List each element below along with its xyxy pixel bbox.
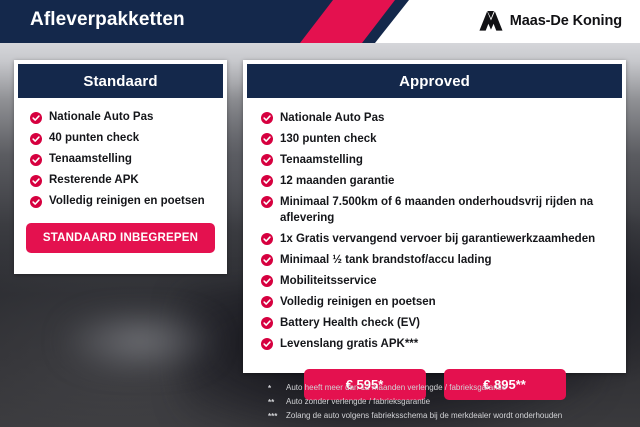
list-item: Mobiliteitsservice xyxy=(243,273,626,289)
standaard-inbegrepen-button[interactable]: STANDAARD INBEGREPEN xyxy=(26,223,215,253)
list-item: 1x Gratis vervangend vervoer bij garanti… xyxy=(243,231,626,247)
check-circle-icon xyxy=(30,196,42,208)
feature-label: Nationale Auto Pas xyxy=(280,110,384,126)
footnote-single-asterisk: * Auto heeft meer dan 12 maanden verleng… xyxy=(268,382,638,394)
list-item: Nationale Auto Pas xyxy=(243,110,626,126)
list-item: 130 punten check xyxy=(243,131,626,147)
page-title: Afleverpakketten xyxy=(30,9,185,31)
package-card-approved: Approved Nationale Auto Pas 130 punten c… xyxy=(243,60,626,373)
page-header: Afleverpakketten Maas-De Koning xyxy=(0,0,640,43)
check-circle-icon xyxy=(261,233,273,245)
feature-label: Minimaal ½ tank brandstof/accu lading xyxy=(280,252,492,268)
check-circle-icon xyxy=(261,133,273,145)
feature-label: Mobiliteitsservice xyxy=(280,273,377,289)
feature-label: Minimaal 7.500km of 6 maanden onderhouds… xyxy=(280,194,616,226)
package-card-standaard: Standaard Nationale Auto Pas 40 punten c… xyxy=(14,60,227,274)
check-circle-icon xyxy=(30,133,42,145)
afleverpakketten-page: Afleverpakketten Maas-De Koning Standaar… xyxy=(0,0,640,427)
footnote-mark: *** xyxy=(268,410,286,422)
footnotes: * Auto heeft meer dan 12 maanden verleng… xyxy=(268,382,638,424)
list-item: 40 punten check xyxy=(14,131,227,146)
footnote-text: Auto heeft meer dan 12 maanden verlengde… xyxy=(286,382,506,393)
list-item: Minimaal 7.500km of 6 maanden onderhouds… xyxy=(243,194,626,226)
feature-label: Resterende APK xyxy=(49,173,139,188)
check-circle-icon xyxy=(261,154,273,166)
feature-list-approved: Nationale Auto Pas 130 punten check Tena… xyxy=(243,98,626,352)
feature-label: 12 maanden garantie xyxy=(280,173,394,189)
check-circle-icon xyxy=(261,275,273,287)
feature-label: 130 punten check xyxy=(280,131,377,147)
feature-label: Volledig reinigen en poetsen xyxy=(49,194,205,209)
card-title-approved: Approved xyxy=(399,73,470,90)
list-item: Minimaal ½ tank brandstof/accu lading xyxy=(243,252,626,268)
card-header-approved: Approved xyxy=(247,64,622,98)
check-circle-icon xyxy=(30,154,42,166)
footnote-text: Zolang de auto volgens fabrieksschema bi… xyxy=(286,410,562,421)
check-circle-icon xyxy=(261,317,273,329)
feature-label: Levenslang gratis APK*** xyxy=(280,336,418,352)
brand-name: Maas-De Koning xyxy=(510,13,622,29)
check-circle-icon xyxy=(261,196,273,208)
check-circle-icon xyxy=(30,175,42,187)
feature-list-standaard: Nationale Auto Pas 40 punten check Tenaa… xyxy=(14,98,227,209)
list-item: Tenaamstelling xyxy=(243,152,626,168)
background-highlight xyxy=(60,306,220,376)
cta-wrapper-standaard: STANDAARD INBEGREPEN xyxy=(14,215,227,253)
list-item: Volledig reinigen en poetsen xyxy=(14,194,227,209)
card-title-standaard: Standaard xyxy=(83,73,157,90)
footnote-mark: ** xyxy=(268,396,286,408)
brand-logo: Maas-De Koning xyxy=(478,10,622,32)
check-circle-icon xyxy=(261,254,273,266)
feature-label: 40 punten check xyxy=(49,131,139,146)
feature-label: Tenaamstelling xyxy=(49,152,132,167)
feature-label: Nationale Auto Pas xyxy=(49,110,153,125)
list-item: Tenaamstelling xyxy=(14,152,227,167)
maas-de-koning-m-logo-icon xyxy=(478,10,503,32)
list-item: Battery Health check (EV) xyxy=(243,315,626,331)
feature-label: Battery Health check (EV) xyxy=(280,315,420,331)
check-circle-icon xyxy=(261,175,273,187)
check-circle-icon xyxy=(30,112,42,124)
footnote-double-asterisk: ** Auto zonder verlengde / fabrieksgaran… xyxy=(268,396,638,408)
list-item: Nationale Auto Pas xyxy=(14,110,227,125)
feature-label: 1x Gratis vervangend vervoer bij garanti… xyxy=(280,231,595,247)
feature-label: Volledig reinigen en poetsen xyxy=(280,294,436,310)
footnote-mark: * xyxy=(268,382,286,394)
check-circle-icon xyxy=(261,338,273,350)
check-circle-icon xyxy=(261,296,273,308)
footnote-triple-asterisk: *** Zolang de auto volgens fabrieksschem… xyxy=(268,410,638,422)
check-circle-icon xyxy=(261,112,273,124)
footnote-text: Auto zonder verlengde / fabrieksgarantie xyxy=(286,396,430,407)
list-item: Levenslang gratis APK*** xyxy=(243,336,626,352)
card-header-standaard: Standaard xyxy=(18,64,223,98)
feature-label: Tenaamstelling xyxy=(280,152,363,168)
list-item: 12 maanden garantie xyxy=(243,173,626,189)
list-item: Resterende APK xyxy=(14,173,227,188)
list-item: Volledig reinigen en poetsen xyxy=(243,294,626,310)
